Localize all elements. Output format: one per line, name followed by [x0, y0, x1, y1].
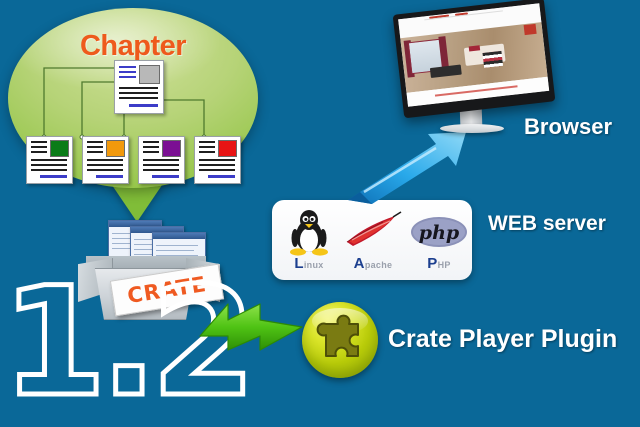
- linux-penguin-icon: [287, 208, 331, 256]
- web-server-label: WEB server: [488, 212, 606, 236]
- browser-label: Browser: [524, 114, 612, 140]
- lamp-label-php: PHP: [408, 255, 470, 272]
- tree-child-document-2[interactable]: [82, 136, 129, 184]
- poster-canvas: Chapter: [0, 0, 640, 427]
- plugin-badge[interactable]: [302, 302, 378, 378]
- tree-child-document-1[interactable]: [26, 136, 73, 184]
- page-title: Chapter: [8, 30, 258, 63]
- document-tree: [26, 60, 256, 165]
- lamp-item-linux: Linux: [278, 206, 340, 276]
- chapter-speech-bubble: Chapter: [8, 8, 258, 188]
- blue-flow-arrow: [344, 128, 474, 206]
- lamp-label-apache: Apache: [342, 255, 404, 272]
- plugin-label: Crate Player Plugin: [388, 325, 617, 354]
- php-logo-icon: php: [410, 212, 468, 256]
- lamp-item-php: php PHP: [408, 206, 470, 276]
- puzzle-piece-icon: [302, 302, 378, 378]
- lamp-label-linux: Linux: [278, 255, 340, 272]
- apache-feather-icon: [343, 208, 403, 256]
- lamp-item-apache: Apache: [342, 206, 404, 276]
- hero-table: [429, 65, 461, 78]
- monitor-stand-base: [440, 124, 504, 133]
- hero-shelf: [482, 51, 503, 67]
- tree-child-document-4[interactable]: [194, 136, 241, 184]
- svg-text:php: php: [419, 222, 460, 244]
- green-transition-arrow: [198, 296, 308, 358]
- hero-ribbon: [523, 24, 537, 35]
- tree-root-document[interactable]: [114, 60, 164, 114]
- tree-child-document-3[interactable]: [138, 136, 185, 184]
- web-server-panel: Linux Apache php PHP: [272, 200, 472, 280]
- monitor-frame: [393, 0, 556, 118]
- monitor-screen[interactable]: [398, 3, 549, 107]
